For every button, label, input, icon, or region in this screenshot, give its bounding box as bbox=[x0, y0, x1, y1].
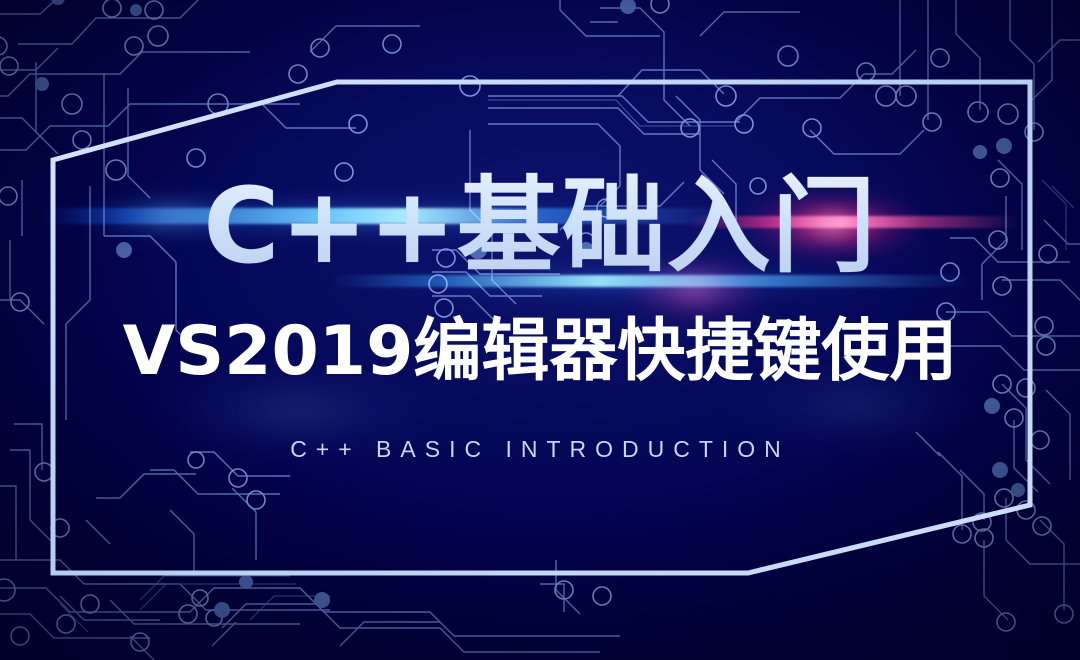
poster-canvas: C++基础入门 VS2019编辑器快捷键使用 C++ BASIC INTRODU… bbox=[0, 0, 1080, 660]
page-subtitle: VS2019编辑器快捷键使用 bbox=[123, 315, 958, 390]
page-title: C++基础入门 bbox=[203, 172, 877, 281]
poster-text-block: C++基础入门 VS2019编辑器快捷键使用 C++ BASIC INTRODU… bbox=[0, 0, 1080, 660]
page-subtitle-english: C++ BASIC INTRODUCTION bbox=[290, 436, 790, 463]
